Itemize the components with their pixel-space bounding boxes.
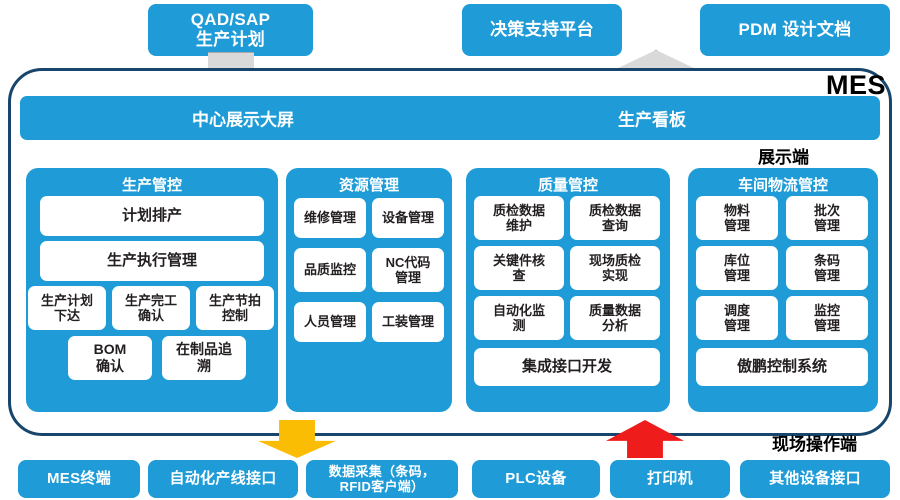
source-box-pdm-docs-label: PDM 设计文档	[739, 20, 852, 40]
module-qc-data-maintenance[interactable]: 质检数据 维护	[474, 196, 564, 240]
module-plan-release-line1: 生产计划	[41, 293, 93, 308]
module-wip-tracking-line1: 在制品追	[176, 341, 232, 358]
module-onsite-inspection-line2: 实现	[589, 268, 641, 283]
source-box-pdm-docs[interactable]: PDM 设计文档	[700, 4, 890, 56]
panel-workshop-logistics: 车间物流管控 物料 管理 批次 管理 库位 管理 条码 管理	[688, 168, 878, 412]
module-equipment-management-label: 设备管理	[382, 210, 434, 225]
panel-resource-management-title: 资源管理	[286, 174, 452, 195]
module-integration-interface-dev[interactable]: 集成接口开发	[474, 348, 660, 386]
module-monitoring-management[interactable]: 监控 管理	[786, 296, 868, 340]
source-box-decision-platform[interactable]: 决策支持平台	[462, 4, 622, 56]
display-bar[interactable]: 中心展示大屏 生产看板	[20, 96, 880, 140]
module-maintenance-management[interactable]: 维修管理	[294, 198, 366, 238]
module-material-management[interactable]: 物料 管理	[696, 196, 778, 240]
module-batch-management-line1: 批次	[814, 203, 840, 218]
module-tooling-management-label: 工装管理	[382, 314, 434, 329]
display-bar-production-board: 生产看板	[618, 106, 686, 131]
module-location-management-line1: 库位	[724, 253, 750, 268]
module-plan-release[interactable]: 生产计划 下达	[28, 286, 106, 330]
module-onsite-inspection-line1: 现场质检	[589, 253, 641, 268]
module-barcode-management-line1: 条码	[814, 253, 840, 268]
module-personnel-management[interactable]: 人员管理	[294, 302, 366, 342]
source-box-qad-sap[interactable]: QAD/SAP 生产计划	[148, 4, 313, 56]
module-qc-data-query-line1: 质检数据	[589, 203, 641, 218]
endpoint-plc-device[interactable]: PLC设备	[472, 460, 600, 498]
endpoint-data-collection-line2: RFID客户端）	[329, 479, 435, 494]
module-qc-data-query-line2: 查询	[589, 218, 641, 233]
endpoint-automation-line-interface[interactable]: 自动化产线接口	[148, 460, 298, 498]
panel-workshop-logistics-title: 车间物流管控	[688, 174, 878, 195]
module-integration-interface-dev-label: 集成接口开发	[522, 358, 612, 376]
module-monitoring-management-line1: 监控	[814, 303, 840, 318]
module-takt-control[interactable]: 生产节拍 控制	[196, 286, 274, 330]
module-material-management-line2: 管理	[724, 218, 750, 233]
module-qc-data-maintenance-line2: 维护	[493, 218, 545, 233]
panel-production-control-title: 生产管控	[26, 174, 278, 195]
mes-architecture-diagram: QAD/SAP 生产计划 决策支持平台 PDM 设计文档 MES 中心展示大屏 …	[0, 0, 900, 500]
module-equipment-management[interactable]: 设备管理	[372, 198, 444, 238]
module-key-part-inspection-line1: 关键件核	[493, 253, 545, 268]
endpoint-other-device-interface-label: 其他设备接口	[769, 470, 861, 488]
module-dispatch-management-line1: 调度	[724, 303, 750, 318]
module-quality-monitoring[interactable]: 品质监控	[294, 248, 366, 292]
module-plan-release-line2: 下达	[41, 308, 93, 323]
module-qc-data-query[interactable]: 质检数据 查询	[570, 196, 660, 240]
module-nc-code-management-line1: NC代码	[386, 255, 431, 270]
module-bom-confirm-line2: 确认	[94, 358, 127, 375]
module-quality-data-analysis-line2: 分析	[589, 318, 641, 333]
module-nc-code-management[interactable]: NC代码 管理	[372, 248, 444, 292]
module-nc-code-management-line2: 管理	[386, 270, 431, 285]
module-personnel-management-label: 人员管理	[304, 314, 356, 329]
module-production-execution-label: 生产执行管理	[107, 252, 197, 270]
endpoint-data-collection-line1: 数据采集（条码，	[329, 464, 435, 479]
panel-quality-control: 质量管控 质检数据 维护 质检数据 查询 关键件核 查 现场质检 实现	[466, 168, 670, 412]
module-key-part-inspection-line2: 查	[493, 268, 545, 283]
endpoint-plc-device-label: PLC设备	[505, 470, 567, 488]
source-box-qad-sap-line2: 生产计划	[191, 30, 271, 50]
module-dispatch-management-line2: 管理	[724, 318, 750, 333]
module-monitoring-management-line2: 管理	[814, 318, 840, 333]
endpoint-data-collection[interactable]: 数据采集（条码， RFID客户端）	[306, 460, 458, 498]
module-completion-confirm-line1: 生产完工	[125, 293, 177, 308]
endpoint-other-device-interface[interactable]: 其他设备接口	[740, 460, 890, 498]
module-tooling-management[interactable]: 工装管理	[372, 302, 444, 342]
panel-quality-control-title: 质量管控	[466, 174, 670, 195]
module-location-management[interactable]: 库位 管理	[696, 246, 778, 290]
module-bom-confirm[interactable]: BOM 确认	[68, 336, 152, 380]
module-aopeng-control-system-label: 傲鹏控制系统	[737, 358, 827, 376]
endpoint-mes-terminal[interactable]: MES终端	[18, 460, 140, 498]
panel-production-control: 生产管控 计划排产 生产执行管理 生产计划 下达 生产完工 确认 生产节拍 控制	[26, 168, 278, 412]
module-dispatch-management[interactable]: 调度 管理	[696, 296, 778, 340]
module-maintenance-management-label: 维修管理	[304, 210, 356, 225]
source-box-decision-platform-label: 决策支持平台	[490, 20, 594, 40]
endpoint-printer-label: 打印机	[647, 470, 693, 488]
module-wip-tracking[interactable]: 在制品追 溯	[162, 336, 246, 380]
endpoint-mes-terminal-label: MES终端	[47, 470, 111, 488]
module-quality-data-analysis-line1: 质量数据	[589, 303, 641, 318]
module-wip-tracking-line2: 溯	[176, 358, 232, 375]
module-onsite-inspection[interactable]: 现场质检 实现	[570, 246, 660, 290]
module-production-execution[interactable]: 生产执行管理	[40, 241, 264, 281]
display-bar-center-screen: 中心展示大屏	[192, 106, 294, 131]
module-material-management-line1: 物料	[724, 203, 750, 218]
source-box-qad-sap-line1: QAD/SAP	[191, 10, 271, 30]
module-takt-control-line1: 生产节拍	[209, 293, 261, 308]
module-completion-confirm[interactable]: 生产完工 确认	[112, 286, 190, 330]
module-key-part-inspection[interactable]: 关键件核 查	[474, 246, 564, 290]
module-plan-scheduling-label: 计划排产	[122, 207, 182, 225]
module-batch-management[interactable]: 批次 管理	[786, 196, 868, 240]
module-plan-scheduling[interactable]: 计划排产	[40, 196, 264, 236]
module-qc-data-maintenance-line1: 质检数据	[493, 203, 545, 218]
panel-resource-management: 资源管理 维修管理 设备管理 品质监控 NC代码 管理 人员管理 工装管理	[286, 168, 452, 412]
module-aopeng-control-system[interactable]: 傲鹏控制系统	[696, 348, 868, 386]
module-completion-confirm-line2: 确认	[125, 308, 177, 323]
module-batch-management-line2: 管理	[814, 218, 840, 233]
module-automated-monitoring-line2: 测	[493, 318, 545, 333]
module-barcode-management[interactable]: 条码 管理	[786, 246, 868, 290]
module-takt-control-line2: 控制	[209, 308, 261, 323]
label-field-side: 现场操作端	[772, 430, 857, 455]
module-automated-monitoring-line1: 自动化监	[493, 303, 545, 318]
module-location-management-line2: 管理	[724, 268, 750, 283]
module-barcode-management-line2: 管理	[814, 268, 840, 283]
endpoint-printer[interactable]: 打印机	[610, 460, 730, 498]
label-display-side: 展示端	[758, 143, 809, 168]
endpoint-automation-line-interface-label: 自动化产线接口	[169, 470, 276, 488]
module-automated-monitoring[interactable]: 自动化监 测	[474, 296, 564, 340]
module-quality-data-analysis[interactable]: 质量数据 分析	[570, 296, 660, 340]
module-bom-confirm-line1: BOM	[94, 341, 127, 358]
module-quality-monitoring-label: 品质监控	[304, 262, 356, 277]
